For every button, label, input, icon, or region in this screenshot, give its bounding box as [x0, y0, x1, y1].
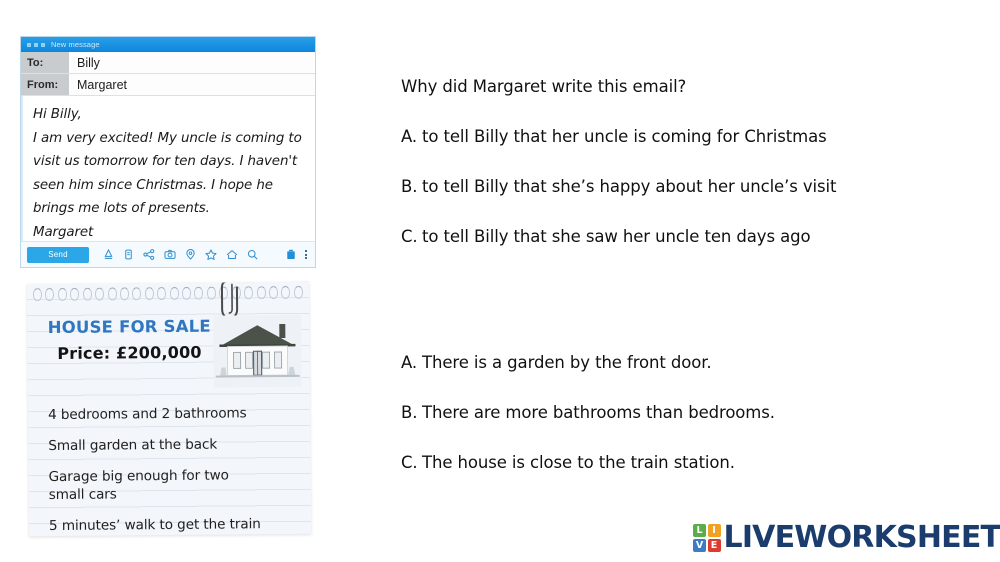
house-illustration	[213, 315, 302, 388]
email-body-line: I am very excited! My uncle is coming to	[33, 128, 305, 150]
window-control-dot	[27, 43, 31, 47]
house-feature-item: Small garden at the back	[48, 435, 298, 455]
question-option[interactable]: B.to tell Billy that she’s happy about h…	[401, 176, 961, 197]
option-letter: B.	[401, 402, 422, 423]
spiral-ring	[281, 285, 290, 298]
option-text: to tell Billy that she’s happy about her…	[422, 177, 836, 196]
window-control-dot	[34, 43, 38, 47]
house-ad-title: HOUSE FOR SALE	[27, 316, 231, 337]
email-signature: Margaret	[33, 222, 305, 244]
spiral-ring	[194, 286, 203, 299]
email-body[interactable]: Hi Billy, I am very excited! My uncle is…	[21, 96, 315, 244]
question-option[interactable]: A.There is a garden by the front door.	[401, 352, 961, 373]
email-toolbar: Send	[21, 241, 315, 267]
logo-block-l: L	[693, 524, 706, 537]
email-from-row: From: Margaret	[21, 74, 315, 96]
option-letter: C.	[401, 226, 422, 247]
window-controls	[27, 43, 45, 47]
worksheet-page: New message To: Billy From: Margaret Hi …	[0, 0, 1000, 562]
email-window-title: New message	[51, 40, 100, 49]
option-text: to tell Billy that she saw her uncle ten…	[422, 227, 810, 246]
spiral-ring	[170, 286, 179, 299]
window-control-dot	[41, 43, 45, 47]
house-ad-notepad: HOUSE FOR SALE Price: £200,000 4 bedroom…	[27, 282, 311, 536]
email-body-line: visit us tomorrow for ten days. I haven'…	[33, 151, 305, 173]
camera-icon[interactable]	[164, 249, 176, 260]
spiral-ring	[257, 286, 266, 299]
house-ad-price: Price: £200,000	[27, 342, 231, 363]
spiral-ring	[58, 287, 67, 300]
star-icon[interactable]	[205, 249, 217, 260]
email-mockup: New message To: Billy From: Margaret Hi …	[20, 36, 316, 268]
logo-block-e: E	[708, 539, 721, 552]
spiral-binding	[33, 285, 303, 301]
option-text: The house is close to the train station.	[422, 453, 735, 472]
house-feature-item: 5 minutes’ walk to get the train	[49, 515, 299, 535]
spiral-ring	[120, 287, 129, 300]
location-pin-icon[interactable]	[185, 249, 196, 260]
trash-icon[interactable]	[286, 245, 296, 264]
search-icon[interactable]	[247, 249, 258, 260]
email-body-line: Hi Billy,	[33, 104, 305, 126]
email-body-line: brings me lots of presents.	[33, 198, 305, 220]
email-to-row: To: Billy	[21, 52, 315, 74]
email-from-value[interactable]: Margaret	[69, 74, 315, 95]
more-options-icon[interactable]	[305, 250, 307, 259]
option-text: There are more bathrooms than bedrooms.	[422, 403, 775, 422]
question-stem: Why did Margaret write this email?	[401, 76, 961, 97]
question-option[interactable]: C.The house is close to the train statio…	[401, 452, 961, 473]
option-letter: C.	[401, 452, 422, 473]
spiral-ring	[95, 287, 104, 300]
email-to-value[interactable]: Billy	[69, 52, 315, 73]
kebab-dot	[305, 254, 307, 256]
email-toolbar-right	[286, 245, 309, 264]
spiral-ring	[207, 286, 216, 299]
spiral-ring	[145, 287, 154, 300]
spiral-ring	[294, 285, 303, 298]
email-from-label: From:	[21, 74, 69, 95]
house-ad-features: 4 bedrooms and 2 bathrooms Small garden …	[48, 404, 299, 536]
question-block-email: Why did Margaret write this email? A.to …	[401, 76, 961, 247]
logo-blocks: L I V E	[693, 524, 721, 552]
option-text: There is a garden by the front door.	[422, 353, 712, 372]
question-option[interactable]: B.There are more bathrooms than bedrooms…	[401, 402, 961, 423]
liveworksheets-logo: L I V E LIVEWORKSHEETS	[693, 523, 1000, 553]
option-letter: A.	[401, 126, 422, 147]
spiral-ring	[70, 287, 79, 300]
email-body-line: seen him since Christmas. I hope he	[33, 175, 305, 197]
email-toolbar-icons	[103, 249, 258, 260]
question-option[interactable]: C.to tell Billy that she saw her uncle t…	[401, 226, 961, 247]
email-to-label: To:	[21, 52, 69, 73]
option-letter: A.	[401, 352, 422, 373]
logo-block-v: V	[693, 539, 706, 552]
home-icon[interactable]	[226, 249, 238, 260]
house-feature-item: 4 bedrooms and 2 bathrooms	[48, 404, 298, 424]
kebab-dot	[305, 250, 307, 252]
spiral-ring	[182, 286, 191, 299]
text-format-icon[interactable]	[103, 249, 114, 260]
spiral-ring	[33, 288, 42, 301]
share-icon[interactable]	[143, 249, 155, 260]
spiral-ring	[157, 287, 166, 300]
spiral-ring	[269, 286, 278, 299]
spiral-ring	[45, 287, 54, 300]
attachment-icon[interactable]	[123, 249, 134, 260]
house-feature-item: Garage big enough for two small cars	[49, 466, 299, 504]
logo-block-i: I	[708, 524, 721, 537]
spiral-ring	[244, 286, 253, 299]
spiral-ring	[132, 287, 141, 300]
send-button[interactable]: Send	[27, 247, 89, 263]
question-block-house: A.There is a garden by the front door. B…	[401, 352, 961, 473]
email-title-bar: New message	[21, 37, 315, 52]
question-option[interactable]: A.to tell Billy that her uncle is coming…	[401, 126, 961, 147]
spiral-ring	[83, 287, 92, 300]
kebab-dot	[305, 257, 307, 259]
option-text: to tell Billy that her uncle is coming f…	[422, 127, 827, 146]
option-letter: B.	[401, 176, 422, 197]
spiral-ring	[107, 287, 116, 300]
logo-wordmark: LIVEWORKSHEETS	[724, 523, 1000, 553]
